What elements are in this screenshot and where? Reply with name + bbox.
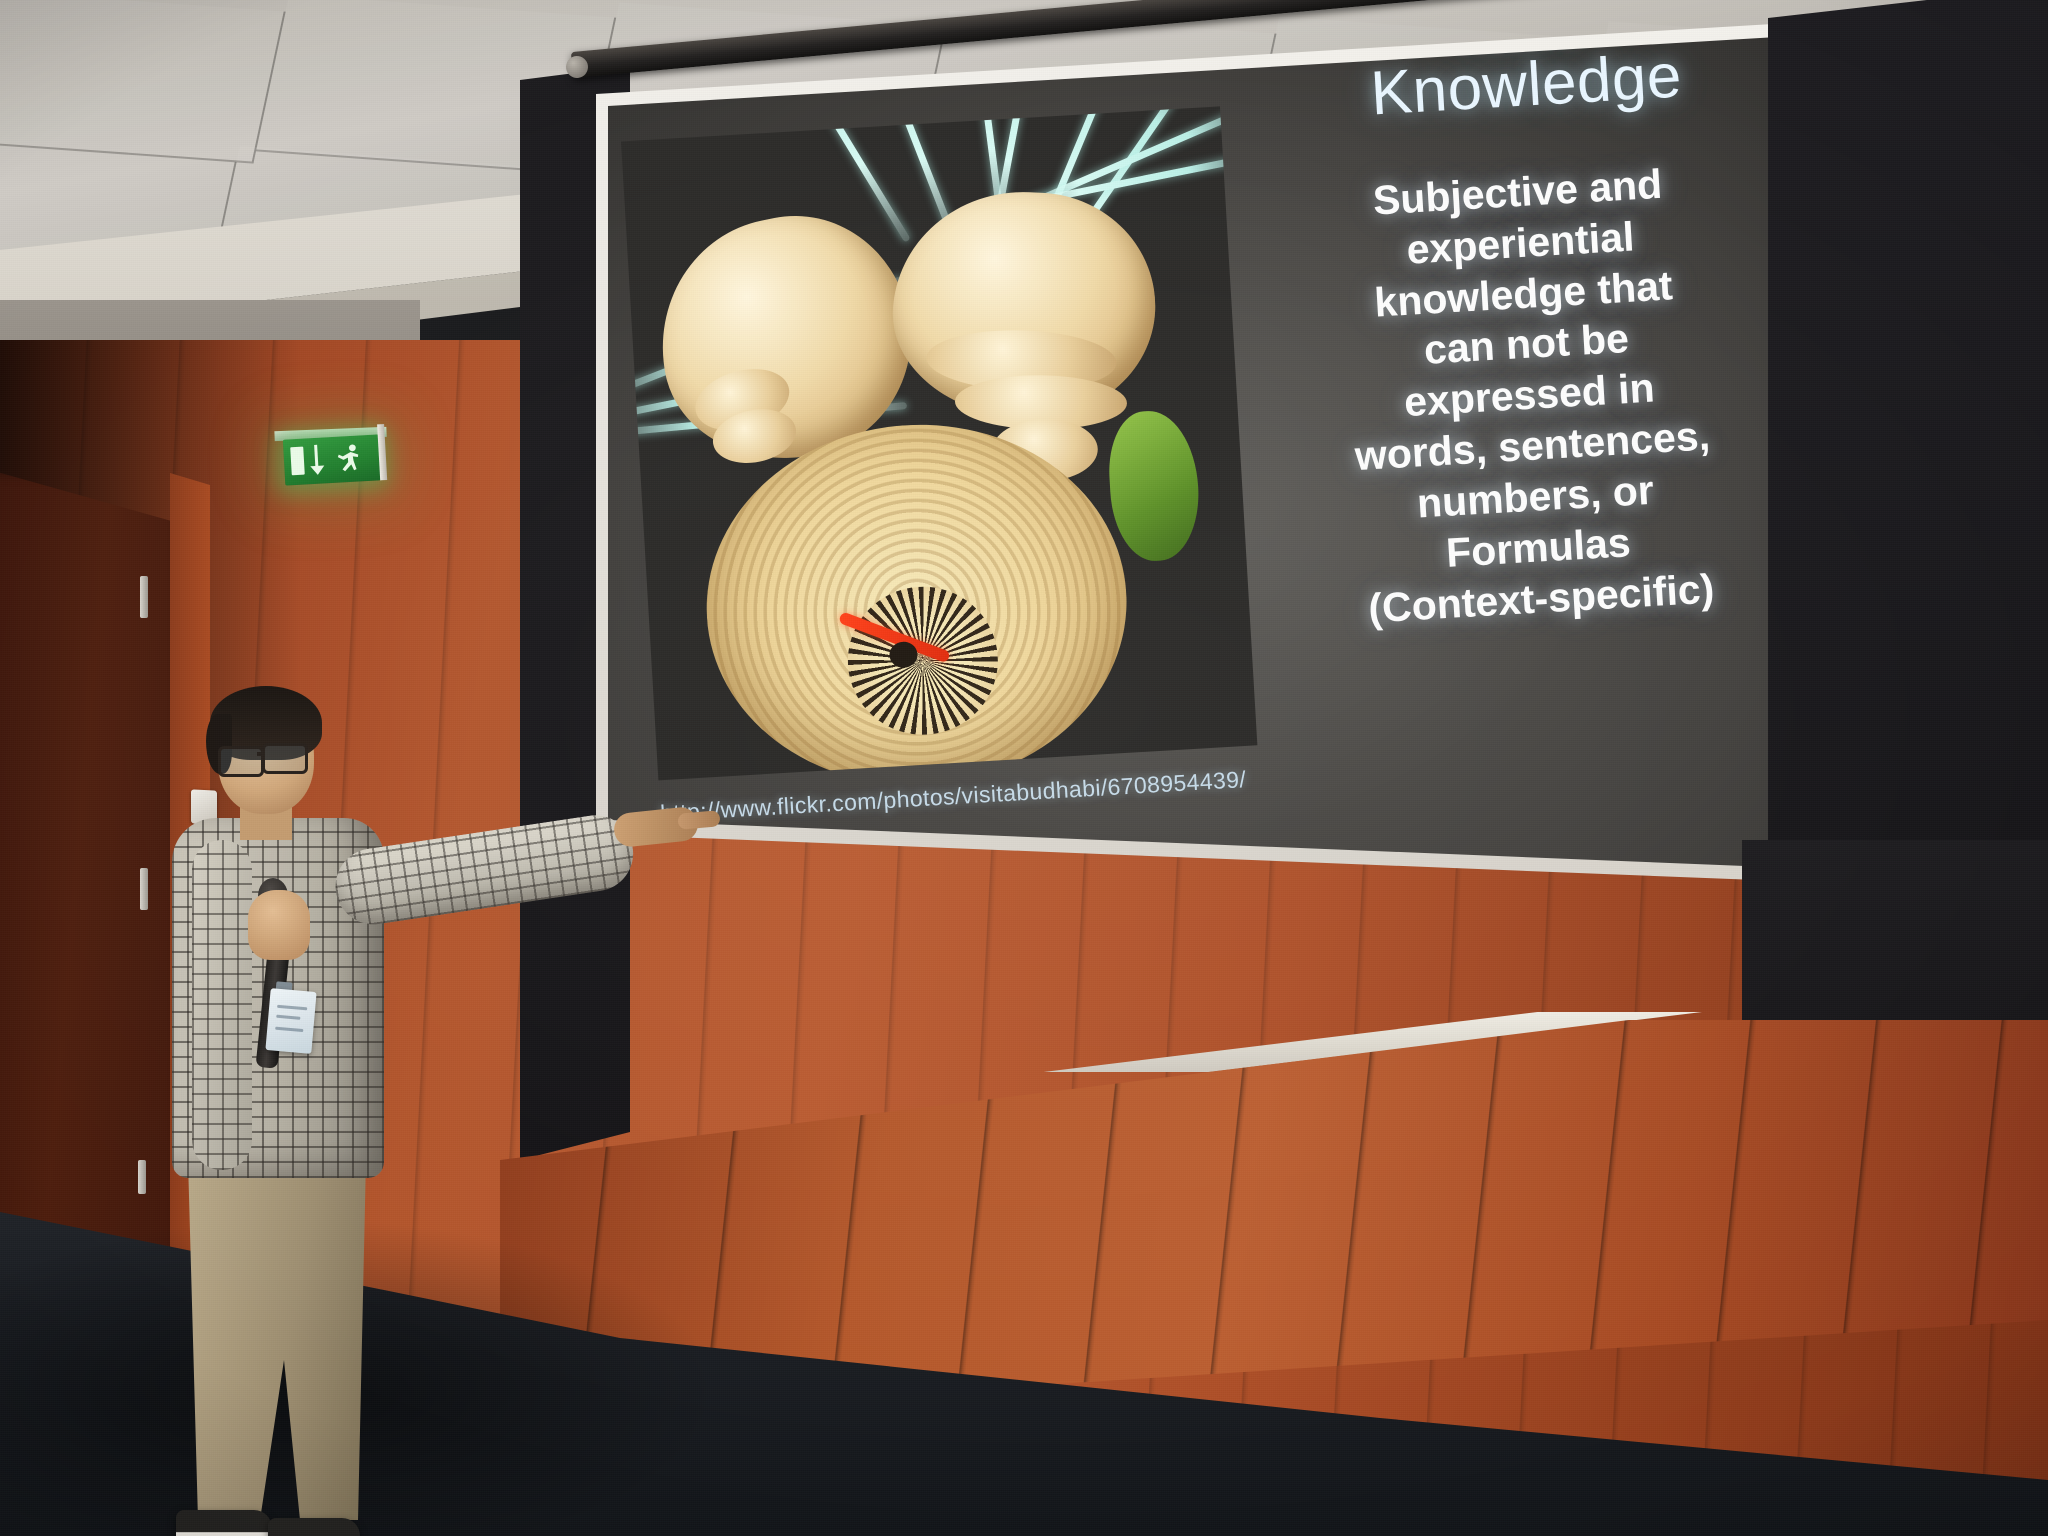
slide-photo-weaving-hands xyxy=(621,106,1257,780)
down-arrow-head-icon xyxy=(310,465,324,475)
emergency-exit-sign xyxy=(283,434,381,485)
presenter-extended-arm xyxy=(330,810,638,930)
presenter-shoe-left xyxy=(176,1510,272,1536)
eyeglasses-left-lens xyxy=(218,746,264,777)
slide-content: Tacit Knowledge Subjective and experient… xyxy=(608,22,1794,920)
running-person-icon xyxy=(333,442,365,474)
presentation-room-scene: Tacit Knowledge Subjective and experient… xyxy=(0,0,2048,1536)
projection-screen-unit: Tacit Knowledge Subjective and experient… xyxy=(596,22,1806,1132)
green-leaf-material xyxy=(1106,408,1203,563)
presenter-shoe-right xyxy=(268,1518,360,1536)
eyeglasses-bridge xyxy=(257,752,265,756)
presenter-mic-hand xyxy=(248,890,310,960)
presenter-figure xyxy=(140,690,700,1410)
presenter-name-badge xyxy=(265,988,316,1054)
eyeglasses-right-lens xyxy=(262,743,308,774)
exit-door-icon xyxy=(290,447,305,476)
slide-body-text: Subjective and experiential knowledge th… xyxy=(1246,151,1794,639)
presenter-near-arm xyxy=(192,840,252,1170)
projected-slide-surface: Tacit Knowledge Subjective and experient… xyxy=(608,22,1794,1132)
